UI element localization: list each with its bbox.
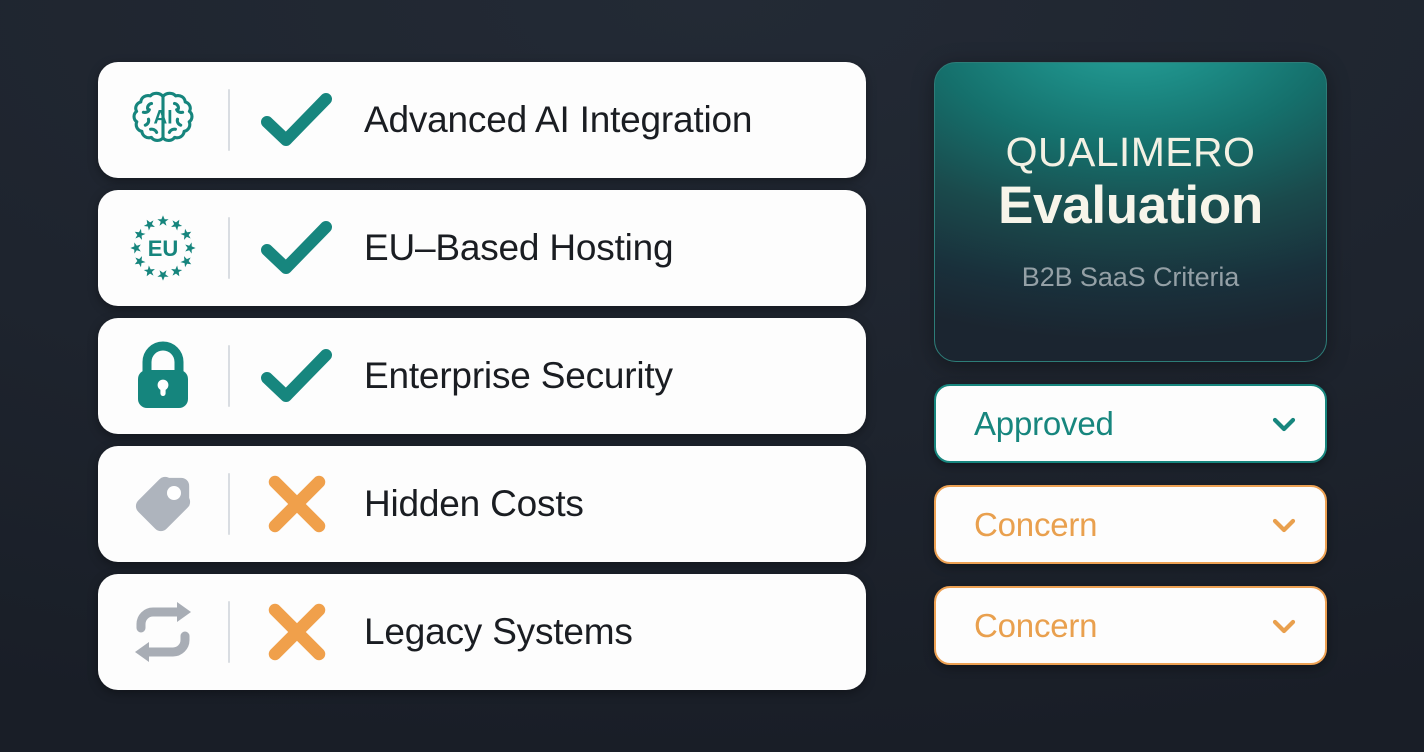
lock-icon — [132, 340, 194, 412]
criteria-label: EU–Based Hosting — [364, 227, 673, 269]
criteria-row[interactable]: Enterprise Security — [98, 318, 866, 434]
criteria-icon-cell — [98, 574, 228, 690]
status-badge-label: Concern — [974, 506, 1267, 544]
criteria-status-cell — [230, 318, 364, 434]
eu-icon-label: EU — [148, 236, 179, 261]
chevron-down-icon[interactable] — [1267, 407, 1301, 441]
cross-icon — [265, 602, 329, 662]
criteria-label: Advanced AI Integration — [364, 99, 752, 141]
criteria-label: Enterprise Security — [364, 355, 673, 397]
criteria-row[interactable]: Hidden Costs — [98, 446, 866, 562]
criteria-status-cell — [230, 574, 364, 690]
brand-name: QUALIMERO — [1006, 131, 1256, 174]
criteria-row[interactable]: EU EU–Based Hosting — [98, 190, 866, 306]
criteria-status-cell — [230, 190, 364, 306]
cross-icon — [265, 474, 329, 534]
criteria-icon-cell — [98, 318, 228, 434]
status-badge-label: Approved — [974, 405, 1267, 443]
chevron-down-icon[interactable] — [1267, 508, 1301, 542]
status-badge-label: Concern — [974, 607, 1267, 645]
brain-icon-label: AI — [154, 108, 173, 129]
status-badge-list: Approved Concern Concern — [934, 384, 1327, 665]
checkmark-icon — [260, 347, 334, 405]
price-tag-icon — [125, 468, 201, 540]
sync-arrows-icon — [123, 596, 203, 668]
criteria-row[interactable]: AI Advanced AI Integration — [98, 62, 866, 178]
criteria-label: Hidden Costs — [364, 483, 584, 525]
criteria-status-cell — [230, 446, 364, 562]
brain-ai-icon: AI — [127, 85, 199, 155]
criteria-icon-cell: AI — [98, 62, 228, 178]
page-subtitle: B2B SaaS Criteria — [1022, 262, 1239, 293]
page-title: Evaluation — [998, 176, 1263, 235]
criteria-list: AI Advanced AI Integration — [98, 62, 866, 690]
checkmark-icon — [260, 91, 334, 149]
status-badge-concern[interactable]: Concern — [934, 485, 1327, 564]
checkmark-icon — [260, 219, 334, 277]
eu-stars-icon: EU — [125, 211, 201, 285]
evaluation-header-card: QUALIMERO Evaluation B2B SaaS Criteria — [934, 62, 1327, 362]
chevron-down-icon[interactable] — [1267, 609, 1301, 643]
status-badge-approved[interactable]: Approved — [934, 384, 1327, 463]
evaluation-overview: AI Advanced AI Integration — [0, 0, 1424, 752]
criteria-row[interactable]: Legacy Systems — [98, 574, 866, 690]
evaluation-panel: QUALIMERO Evaluation B2B SaaS Criteria A… — [934, 62, 1327, 665]
criteria-icon-cell: EU — [98, 190, 228, 306]
criteria-label: Legacy Systems — [364, 611, 633, 653]
criteria-icon-cell — [98, 446, 228, 562]
criteria-status-cell — [230, 62, 364, 178]
status-badge-concern[interactable]: Concern — [934, 586, 1327, 665]
